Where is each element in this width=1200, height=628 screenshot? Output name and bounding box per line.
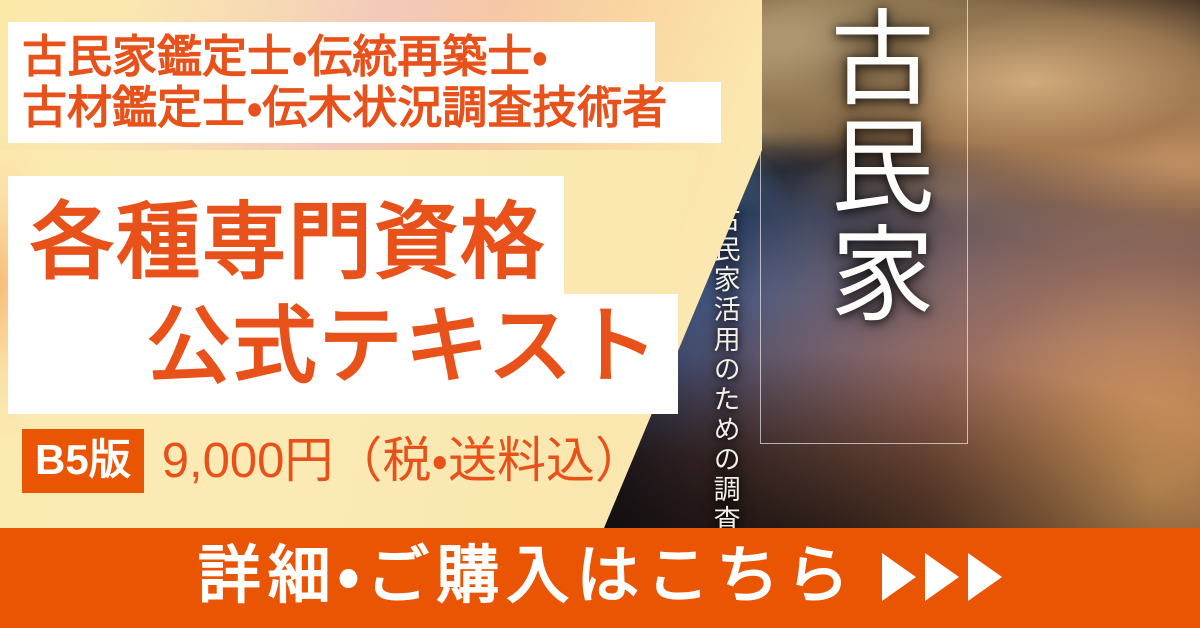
play-arrow-icon	[925, 553, 959, 601]
headline: 古民家鑑定士・伝統再築士・ 古材鑑定士・伝木状況調査技術者	[8, 22, 721, 143]
book-cover-title: 古民家	[782, 4, 932, 328]
page-title: 各種専門資格 公式テキスト	[8, 176, 678, 414]
cta-arrows	[882, 553, 1002, 601]
headline-line-1: 古民家鑑定士・伝統再築士・	[8, 22, 655, 82]
play-arrow-icon	[968, 553, 1002, 601]
play-arrow-icon	[882, 553, 916, 601]
price-row: B5版 9,000円（税・送料込）	[22, 429, 644, 493]
main-title-line-1: 各種専門資格	[8, 176, 564, 294]
price-amount: 9,000円（税・送料込）	[162, 437, 644, 486]
main-title-line-2: 公式テキスト	[8, 294, 678, 414]
promo-banner: 古民家 伝統構法 古民家活用のための調査と再生の 古民家鑑定士・伝統再築士・ 古…	[0, 0, 1200, 628]
cta-button[interactable]: 詳細・ご購入はこちら	[0, 528, 1200, 628]
format-badge: B5版	[22, 429, 144, 493]
cta-label: 詳細・ご購入はこちら	[198, 545, 856, 608]
headline-line-2: 古材鑑定士・伝木状況調査技術者	[8, 82, 721, 143]
